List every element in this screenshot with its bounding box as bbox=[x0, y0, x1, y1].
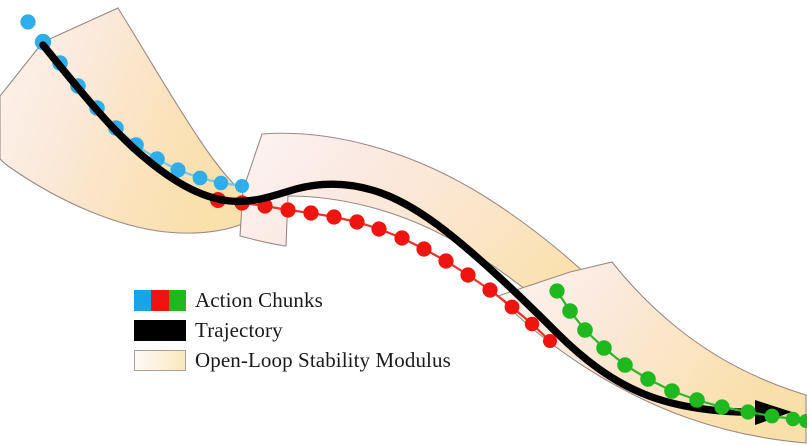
green-point bbox=[740, 404, 755, 419]
legend-item-action-chunks: Action Chunks bbox=[134, 288, 494, 312]
green-point bbox=[617, 357, 633, 373]
stability-modulus-bands bbox=[0, 8, 806, 443]
trajectory-swatch bbox=[134, 320, 186, 341]
legend-label-trajectory: Trajectory bbox=[195, 320, 283, 341]
figure-canvas: Action Chunks Trajectory Open-Loop Stabi… bbox=[0, 0, 807, 446]
legend: Action Chunks Trajectory Open-Loop Stabi… bbox=[134, 288, 494, 372]
trajectory-figure bbox=[0, 0, 807, 446]
red-point bbox=[416, 241, 431, 256]
legend-item-stability-modulus: Open-Loop Stability Modulus bbox=[134, 348, 494, 372]
swatch-band-blue bbox=[134, 290, 151, 311]
swatch-band-green bbox=[169, 290, 186, 311]
legend-item-trajectory: Trajectory bbox=[134, 318, 494, 342]
blue-point bbox=[235, 179, 249, 193]
red-point bbox=[326, 209, 341, 224]
green-point bbox=[765, 409, 780, 424]
red-point bbox=[303, 205, 318, 220]
swatch-band-red bbox=[151, 290, 168, 311]
green-point bbox=[786, 412, 800, 426]
green-point bbox=[640, 371, 656, 387]
red-point bbox=[525, 317, 539, 331]
orphan-blue-dot bbox=[20, 14, 35, 29]
green-point bbox=[549, 283, 564, 298]
red-point bbox=[280, 202, 295, 217]
legend-label-stability-modulus: Open-Loop Stability Modulus bbox=[195, 350, 451, 371]
red-point bbox=[505, 300, 520, 315]
red-point bbox=[438, 253, 453, 268]
blue-point bbox=[193, 171, 208, 186]
stability-modulus-swatch bbox=[134, 350, 186, 371]
red-point bbox=[349, 214, 364, 229]
green-point bbox=[562, 303, 578, 319]
legend-label-action-chunks: Action Chunks bbox=[195, 290, 323, 311]
red-point bbox=[371, 221, 386, 236]
green-point bbox=[664, 383, 680, 399]
blue-point bbox=[214, 176, 228, 190]
green-point bbox=[689, 392, 705, 408]
green-point bbox=[714, 399, 729, 414]
green-point bbox=[596, 340, 612, 356]
red-point bbox=[394, 230, 409, 245]
action-chunks-swatch bbox=[134, 290, 186, 311]
green-point bbox=[577, 322, 593, 338]
red-point bbox=[460, 267, 475, 282]
